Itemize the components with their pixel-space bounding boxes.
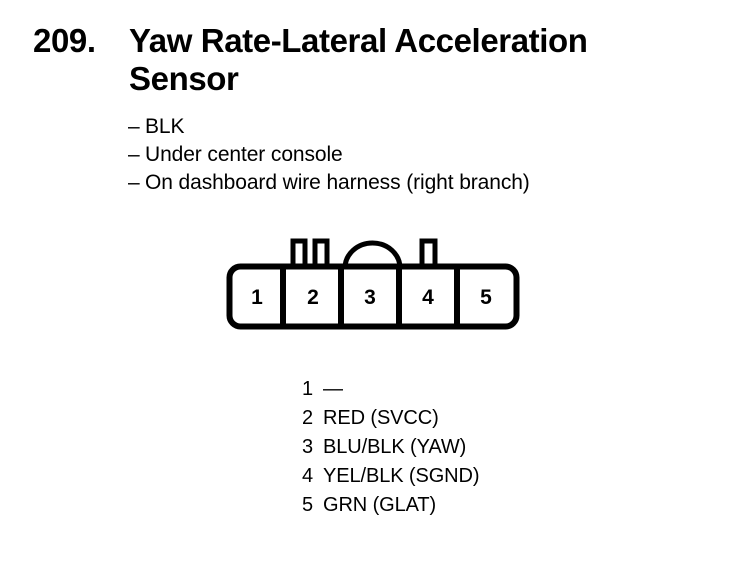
detail-list: – BLK – Under center console – On dashbo… — [128, 113, 530, 197]
page-title: 209. Yaw Rate-Lateral Acceleration Senso… — [33, 22, 713, 98]
pinout-legend: 1 — 2 RED (SVCC) 3 BLU/BLK (YAW) 4 YEL/B… — [302, 375, 479, 520]
list-item: – Under center console — [128, 141, 530, 169]
section-heading: Yaw Rate-Lateral Acceleration Sensor — [129, 22, 699, 98]
wiring-diagram-page: { "page": { "background_color": "#ffffff… — [0, 0, 736, 566]
pinout-pin-number: 4 — [302, 462, 322, 491]
cavity-number-5: 5 — [480, 286, 492, 309]
pinout-wire-label: YEL/BLK (SGND) — [322, 462, 479, 491]
pinout-wire-label: RED (SVCC) — [322, 404, 439, 433]
pinout-wire-label: BLU/BLK (YAW) — [322, 433, 466, 462]
connector-illustration: 1 2 3 4 5 — [222, 234, 522, 334]
pinout-pin-number: 1 — [302, 375, 322, 404]
section-number: 209. — [33, 22, 129, 60]
pinout-pin-number: 5 — [302, 491, 322, 520]
pinout-pin-number: 2 — [302, 404, 322, 433]
pinout-wire-label: — — [322, 375, 343, 404]
pinout-row: 3 BLU/BLK (YAW) — [302, 433, 479, 462]
dash-bullet-icon: – — [128, 113, 145, 141]
dash-bullet-icon: – — [128, 141, 145, 169]
pinout-pin-number: 3 — [302, 433, 322, 462]
pinout-row: 5 GRN (GLAT) — [302, 491, 479, 520]
pinout-wire-label: GRN (GLAT) — [322, 491, 436, 520]
list-item-label: BLK — [145, 113, 184, 141]
cavity-number-2: 2 — [307, 286, 319, 309]
pinout-row: 4 YEL/BLK (SGND) — [302, 462, 479, 491]
pinout-row: 1 — — [302, 375, 479, 404]
dash-bullet-icon: – — [128, 169, 145, 197]
cavity-number-3: 3 — [364, 286, 376, 309]
cavity-number-4: 4 — [422, 286, 434, 309]
connector-diagram: 1 2 3 4 5 — [222, 234, 522, 334]
pinout-row: 2 RED (SVCC) — [302, 404, 479, 433]
list-item: – BLK — [128, 113, 530, 141]
cavity-number-1: 1 — [251, 286, 263, 309]
list-item-label: Under center console — [145, 141, 343, 169]
list-item-label: On dashboard wire harness (right branch) — [145, 169, 530, 197]
list-item: – On dashboard wire harness (right branc… — [128, 169, 530, 197]
title-row: 209. Yaw Rate-Lateral Acceleration Senso… — [33, 22, 713, 98]
